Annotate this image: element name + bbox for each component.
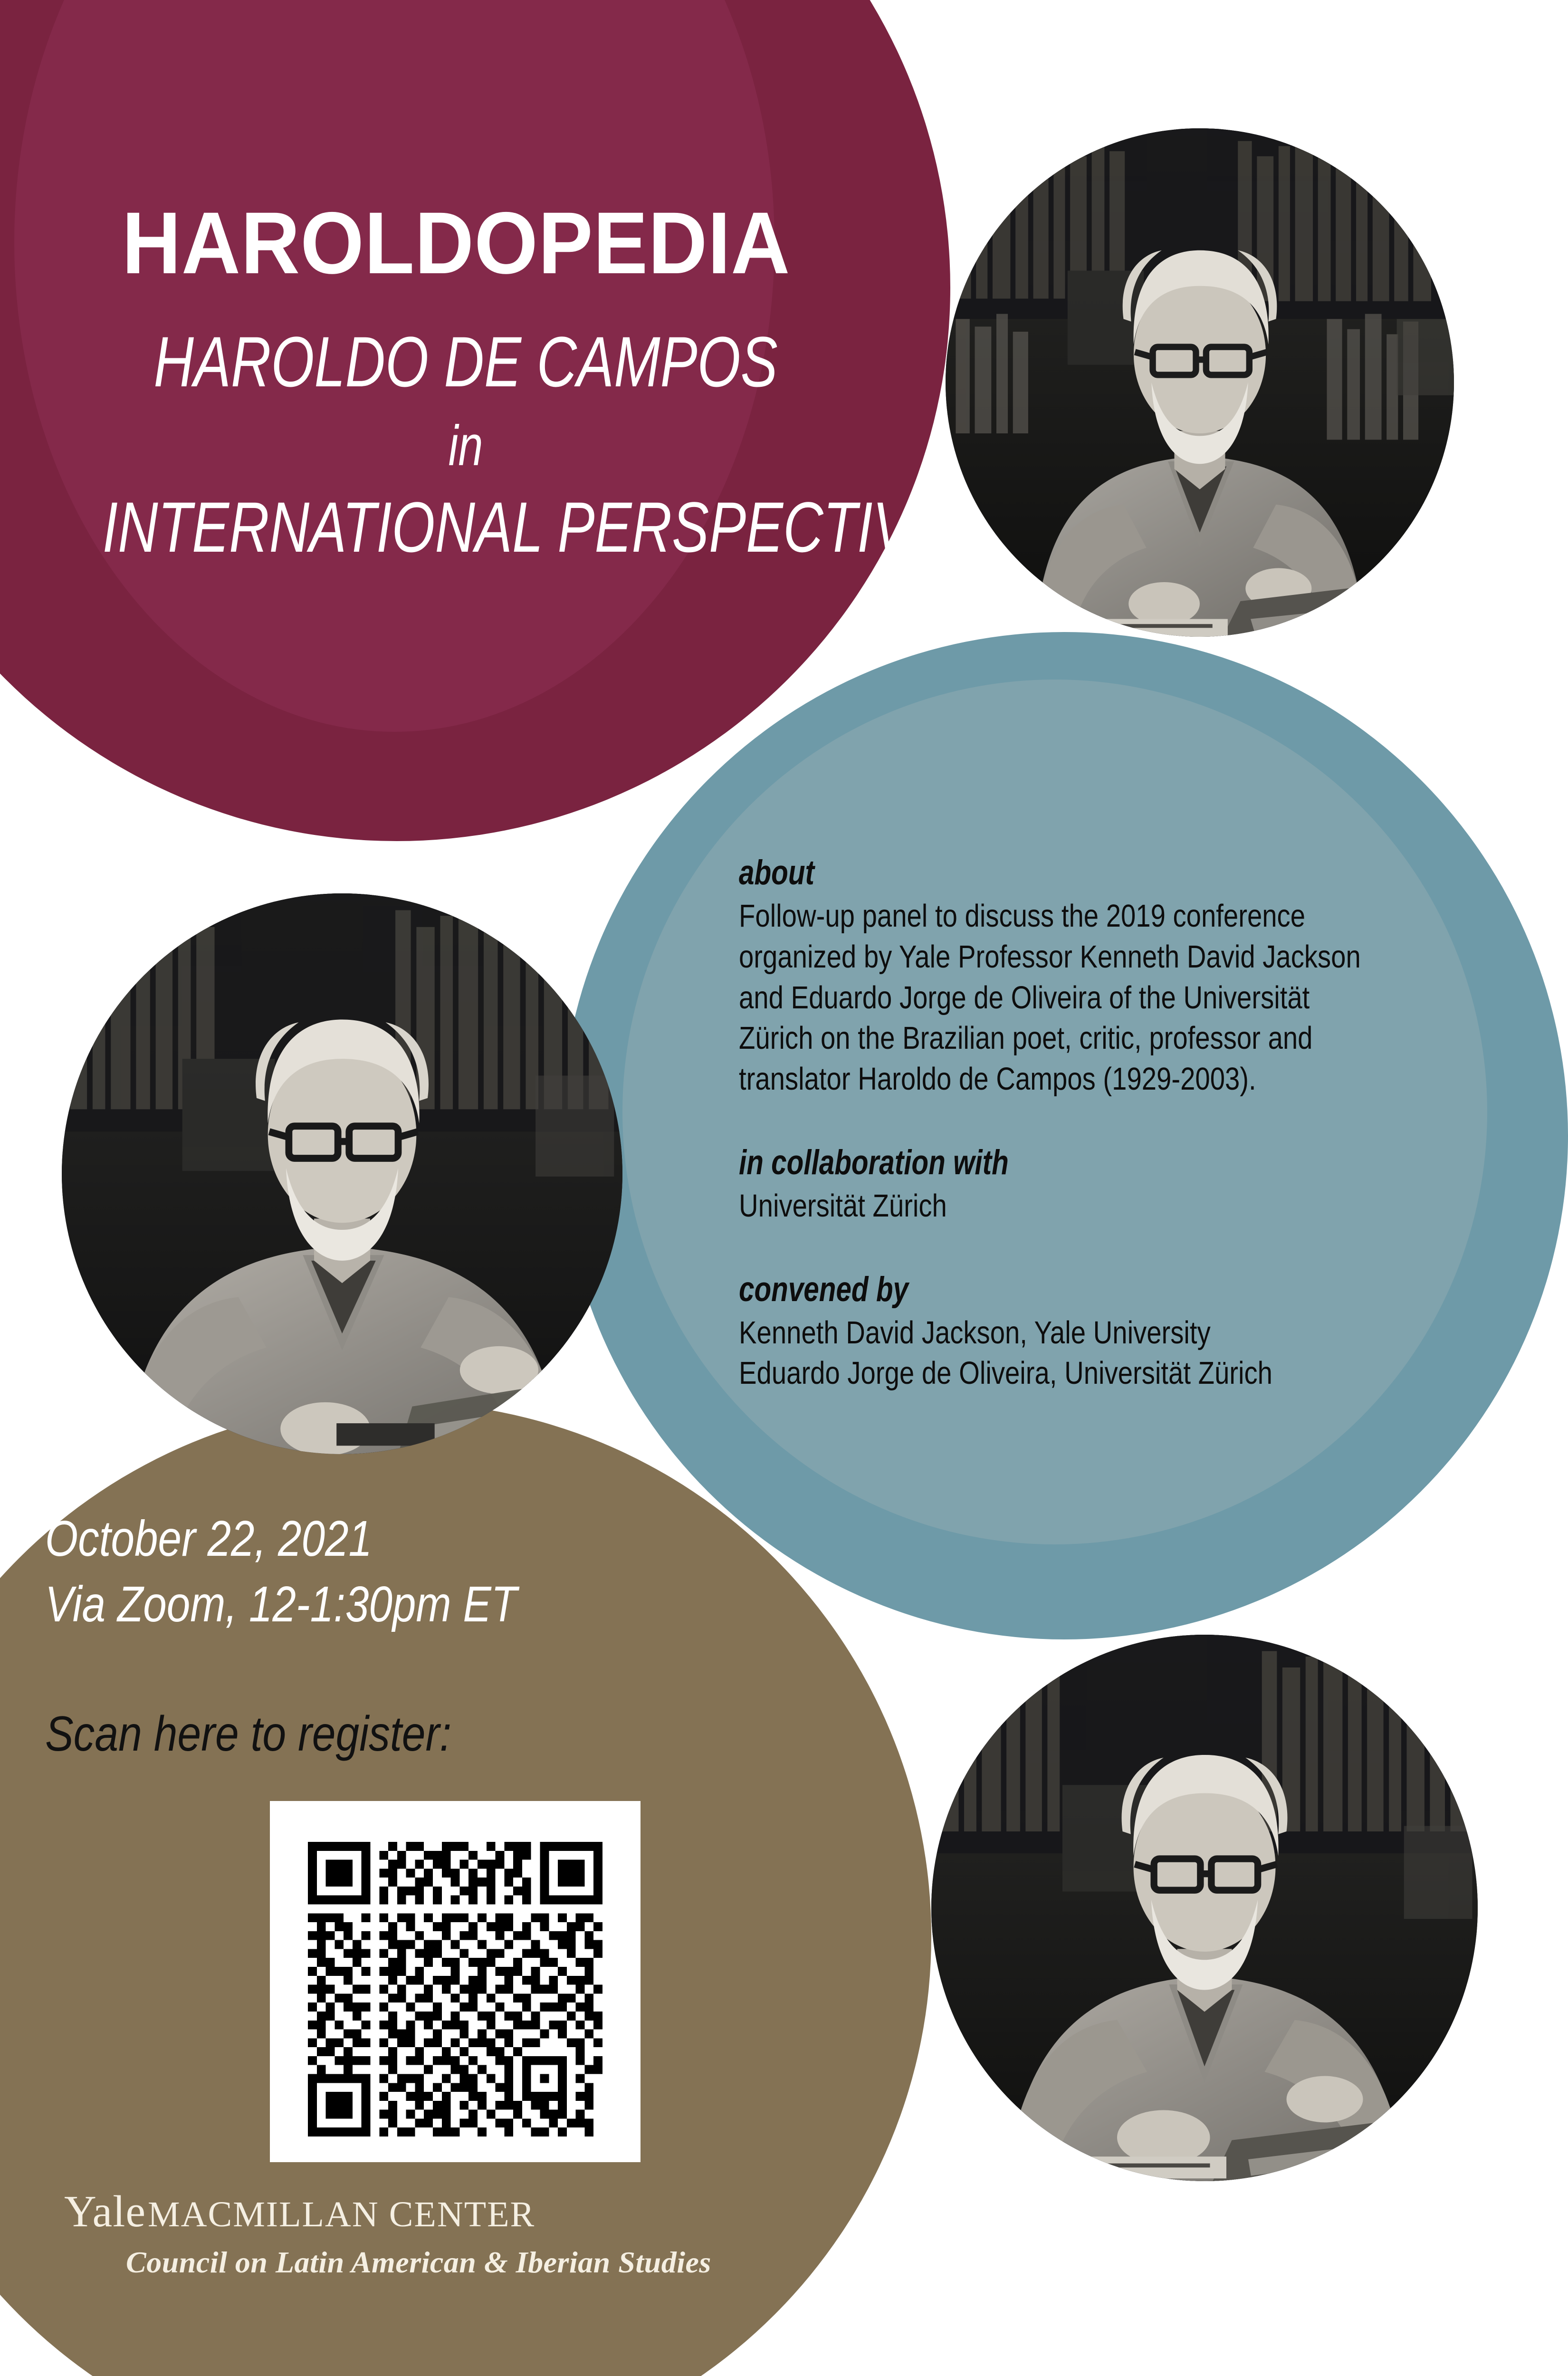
poster-canvas: HAROLDOPEDIA HAROLDO DE CAMPOS in INTERN…	[0, 0, 1568, 2376]
qr-code-panel[interactable]	[270, 1801, 641, 2162]
convened-heading: convened by	[739, 1272, 1332, 1307]
portrait-photo-left	[62, 893, 622, 1454]
convener-2: Eduardo Jorge de Oliveira, Universität Z…	[739, 1353, 1361, 1394]
about-body: Follow-up panel to discuss the 2019 conf…	[739, 896, 1361, 1100]
subtitle-line-2: in	[103, 416, 829, 476]
logo-primary-row: Yale MACMILLAN CENTER	[64, 2186, 872, 2237]
convened-body: Kenneth David Jackson, Yale University E…	[739, 1313, 1361, 1394]
title-block: HAROLDOPEDIA HAROLDO DE CAMPOS in INTERN…	[0, 200, 931, 565]
spacer	[739, 1226, 1480, 1272]
event-info-block: October 22, 2021 Via Zoom, 12-1:30pm ET	[45, 1506, 758, 1638]
macmillan-center-wordmark: MACMILLAN CENTER	[148, 2194, 535, 2234]
register-prompt: Scan here to register:	[45, 1706, 451, 1763]
collaboration-heading: in collaboration with	[739, 1145, 1332, 1180]
details-column: about Follow-up panel to discuss the 201…	[739, 855, 1480, 1394]
subtitle-line-3: INTERNATIONAL PERSPECTIVE	[103, 490, 829, 565]
collaboration-body: Universität Zürich	[739, 1186, 1361, 1226]
subtitle-line-1: HAROLDO DE CAMPOS	[103, 325, 829, 400]
event-date: October 22, 2021	[45, 1506, 644, 1572]
portrait-photo-icon	[946, 128, 1454, 637]
spacer	[739, 1100, 1480, 1145]
page-title: HAROLDOPEDIA	[14, 200, 898, 287]
portrait-photo-top	[946, 128, 1454, 637]
event-location-time: Via Zoom, 12-1:30pm ET	[45, 1572, 644, 1638]
council-subtitle: Council on Latin American & Iberian Stud…	[126, 2245, 872, 2280]
portrait-photo-icon	[62, 893, 622, 1454]
about-heading: about	[739, 855, 1332, 890]
yale-wordmark: Yale	[64, 2187, 146, 2236]
yale-macmillan-logo: Yale MACMILLAN CENTER Council on Latin A…	[64, 2186, 872, 2280]
convener-1: Kenneth David Jackson, Yale University	[739, 1313, 1361, 1353]
portrait-photo-icon	[931, 1635, 1478, 2181]
qr-code-icon[interactable]	[308, 1842, 602, 2136]
portrait-photo-bottom	[931, 1635, 1478, 2181]
